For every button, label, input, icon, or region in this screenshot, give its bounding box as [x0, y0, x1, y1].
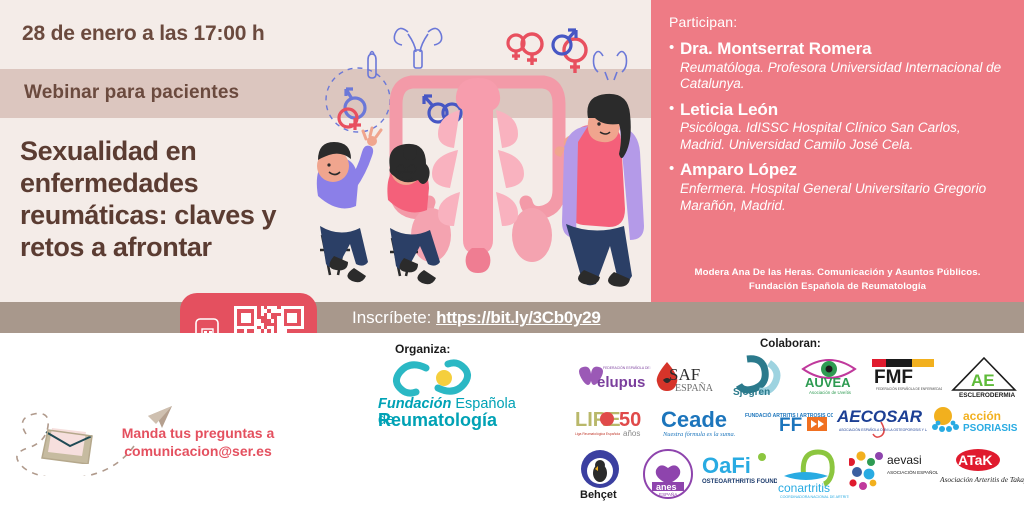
felupus-subtext: FEDERACIÓN ESPAÑOLA DE LUPUS: [603, 365, 651, 370]
conartritis-subtext: COORDINADORA NACIONAL DE ARTRITIS: [780, 495, 849, 499]
conartritis-logo-icon: conartritis COORDINADORA NACIONAL DE ART…: [777, 448, 849, 500]
registration-link[interactable]: https://bit.ly/3Cb0y29: [436, 308, 600, 327]
aecoar-subtext: ASOCIACIÓN ESPAÑOLA CON LA OSTEOPOROSIS …: [839, 427, 927, 432]
speaker-role: Enfermera. Hospital General Universitari…: [680, 181, 1008, 214]
illustration-svg: [300, 0, 651, 302]
logo-aevasi: aevasi ASOCIACIÓN ESPAÑOLA DE VASCULITIS…: [849, 444, 937, 504]
saf-espana-logo-icon: SAF ESPAÑA: [653, 358, 727, 394]
felupus-wordmark: elupus: [597, 374, 645, 391]
esclerodermia-subtext: ESCLERODERMIA: [959, 392, 1015, 398]
collaborator-logos: elupus FEDERACIÓN ESPAÑOLA DE LUPUS SAF …: [572, 352, 1024, 504]
atak-wordmark: ATaK: [958, 452, 992, 468]
logo-esclerodermia: AE ESCLERODERMIA: [944, 352, 1024, 400]
auvea-logo-icon: AUVEA Asociación de Uveítis: [795, 355, 867, 397]
uterus-outline-icon: [394, 28, 441, 68]
logo-lire: LIRE 50 años Liga Reumatológica Española: [572, 400, 658, 444]
organizer-logo: Fundación Española de Reumatología: [370, 358, 522, 428]
esclerodermia-logo-icon: AE ESCLERODERMIA: [945, 354, 1023, 398]
psoriasis-wordmark: PSORIASIS: [963, 423, 1018, 434]
collaborator-row: Behçet anes ESPAÑA OaFi OSTEOARTHRITIS F…: [572, 444, 1024, 504]
oafi-wordmark: OaFi: [702, 453, 751, 478]
speaker-item: • Dra. Montserrat Romera Reumatóloga. Pr…: [669, 39, 1008, 93]
logo-oafi: OaFi OSTEOARTHRITIS FOUNDATION INTERNATI…: [702, 444, 778, 504]
speakers-panel: Participan: • Dra. Montserrat Romera Reu…: [651, 0, 1024, 302]
organizer-name-line-2: Reumatología: [378, 410, 497, 431]
logo-saf-espana: SAF ESPAÑA: [652, 352, 728, 400]
event-kicker: Webinar para pacientes: [24, 82, 239, 104]
collaborators-label: Colaboran:: [760, 338, 821, 350]
collaborator-row: elupus FEDERACIÓN ESPAÑOLA DE LUPUS SAF …: [572, 352, 1024, 400]
lire-badge: 50: [619, 409, 641, 431]
logo-ffd: FUNDACIÓ ARTRITIS I ARTROSIS COMUNITAT V…: [742, 400, 834, 444]
lire-logo-icon: LIRE 50 años Liga Reumatológica Española: [573, 402, 657, 442]
anes-logo-icon: anes ESPAÑA: [635, 448, 702, 500]
seated-man-figure: [317, 128, 381, 282]
logo-felupus: elupus FEDERACIÓN ESPAÑOLA DE LUPUS: [572, 352, 652, 400]
ae-wordmark: AE: [971, 371, 995, 390]
atak-logo-icon: ATaK Asociación Arteritis de Takayasu en…: [938, 448, 1024, 500]
logo-conartritis: conartritis COORDINADORA NACIONAL DE ART…: [777, 444, 849, 504]
fmf-wordmark: FMF: [874, 367, 913, 388]
male-male-symbol-icon: [553, 30, 586, 73]
logo-behcet: Behçet: [572, 444, 635, 504]
ceade-logo-icon: Ceade Nuestra fórmula es la suma.: [659, 403, 741, 441]
doctor-figure: [555, 94, 644, 287]
bullet-icon: •: [669, 160, 680, 214]
sjogren-logo-icon: Sjögren: [729, 355, 793, 397]
registration-label: Inscríbete:: [352, 308, 431, 327]
female-female-symbol-icon: [508, 34, 542, 65]
aecoar-wordmark: AECOSAR: [836, 407, 923, 426]
aevasi-subtext: ASOCIACIÓN ESPAÑOLA DE VASCULITIS SISTÉM…: [887, 469, 937, 475]
ffd-logo-icon: FUNDACIÓ ARTRITIS I ARTROSIS COMUNITAT V…: [743, 405, 833, 439]
questions-line-2[interactable]: comunicacion@ser.es: [108, 443, 288, 461]
aevasi-wordmark: aevasi: [887, 453, 922, 467]
behcet-logo-icon: Behçet: [572, 447, 635, 501]
registration-text: Inscríbete: https://bit.ly/3Cb0y29: [352, 308, 601, 328]
saf-wordmark: SAF: [669, 365, 700, 384]
atak-subtext: Asociación Arteritis de Takayasu en Espa…: [939, 475, 1024, 484]
logo-accion-psoriasis: acción PSORIASIS: [928, 400, 1020, 444]
speaker-name: Dra. Montserrat Romera: [680, 39, 1008, 59]
logo-atak: ATaK Asociación Arteritis de Takayasu en…: [938, 444, 1024, 504]
logo-ceade: Ceade Nuestra fórmula es la suma.: [658, 400, 742, 444]
speaker-item: • Leticia León Psicóloga. IdISSC Hospita…: [669, 100, 1008, 154]
lire-subtext: Liga Reumatológica Española: [575, 432, 620, 436]
speakers-heading: Participan:: [669, 14, 1008, 30]
logo-auvea: AUVEA Asociación de Uveítis: [794, 352, 868, 400]
ceade-subtext: Nuestra fórmula es la suma.: [662, 431, 736, 438]
speaker-name: Amparo López: [680, 160, 1008, 180]
event-datetime: 28 de enero a las 17:00 h: [22, 22, 264, 46]
moderator-line-1: Modera Ana De las Heras. Comunicación y …: [651, 267, 1024, 278]
lire-badge-sub: años: [623, 429, 640, 438]
page-title: Sexualidad en enfermedades reumáticas: c…: [20, 136, 320, 263]
aevasi-logo-icon: aevasi ASOCIACIÓN ESPAÑOLA DE VASCULITIS…: [849, 450, 937, 498]
oafi-logo-icon: OaFi OSTEOARTHRITIS FOUNDATION INTERNATI…: [702, 449, 778, 499]
speaker-role: Psicóloga. IdISSC Hospital Clínico San C…: [680, 120, 1008, 153]
bullet-icon: •: [669, 39, 680, 93]
speaker-name: Leticia León: [680, 100, 1008, 120]
behcet-wordmark: Behçet: [580, 489, 617, 501]
saf-subtext: ESPAÑA: [675, 382, 714, 394]
anes-subtext: ESPAÑA: [659, 491, 678, 497]
fer-mark-icon: [370, 358, 522, 398]
oafi-subtext: OSTEOARTHRITIS FOUNDATION INTERNATIONAL: [702, 479, 777, 485]
logo-aecoar: AECOSAR ASOCIACIÓN ESPAÑOLA CON LA OSTEO…: [834, 400, 928, 444]
questions-text: Manda tus preguntas a comunicacion@ser.e…: [108, 425, 288, 460]
logo-anes: anes ESPAÑA: [635, 444, 702, 504]
accion-wordmark: acción: [963, 409, 1001, 423]
aecoar-logo-icon: AECOSAR ASOCIACIÓN ESPAÑOLA CON LA OSTEO…: [835, 404, 927, 440]
moderator-line-2: Fundación Española de Reumatología: [651, 281, 1024, 292]
questions-line-1: Manda tus preguntas a: [108, 425, 288, 443]
hero-illustration: [300, 0, 651, 302]
fmf-subtext: FEDERACIÓN ESPAÑOLA DE ENFERMEDADES RARA…: [876, 386, 942, 391]
accion-psoriasis-logo-icon: acción PSORIASIS: [929, 405, 1019, 439]
ffd-wordmark: FF: [779, 415, 802, 436]
speaker-role: Reumatóloga. Profesora Universidad Inter…: [680, 60, 1008, 93]
logo-sjogren: Sjögren: [728, 352, 794, 400]
sjogren-wordmark: Sjögren: [733, 387, 770, 397]
bullet-icon: •: [669, 100, 680, 154]
felupus-logo-icon: elupus FEDERACIÓN ESPAÑOLA DE LUPUS: [573, 359, 651, 393]
collaborator-row: LIRE 50 años Liga Reumatológica Española…: [572, 400, 1024, 444]
auvea-wordmark: AUVEA: [805, 375, 851, 390]
fallopian-outline-icon: [594, 52, 627, 81]
auvea-subtext: Asociación de Uveítis: [809, 390, 852, 395]
speaker-item: • Amparo López Enfermera. Hospital Gener…: [669, 160, 1008, 214]
poster-root: 28 de enero a las 17:00 h Webinar para p…: [0, 0, 1024, 512]
fmf-logo-icon: FMF FEDERACIÓN ESPAÑOLA DE ENFERMEDADES …: [870, 357, 942, 395]
condom-outline-icon: [368, 52, 376, 79]
anes-wordmark: anes: [656, 482, 677, 492]
logo-fmf: FMF FEDERACIÓN ESPAÑOLA DE ENFERMEDADES …: [868, 352, 944, 400]
conartritis-wordmark: conartritis: [778, 481, 830, 495]
organizer-label: Organiza:: [395, 342, 450, 356]
trans-symbol-icon: [339, 89, 365, 130]
ceade-wordmark: Ceade: [661, 407, 727, 432]
